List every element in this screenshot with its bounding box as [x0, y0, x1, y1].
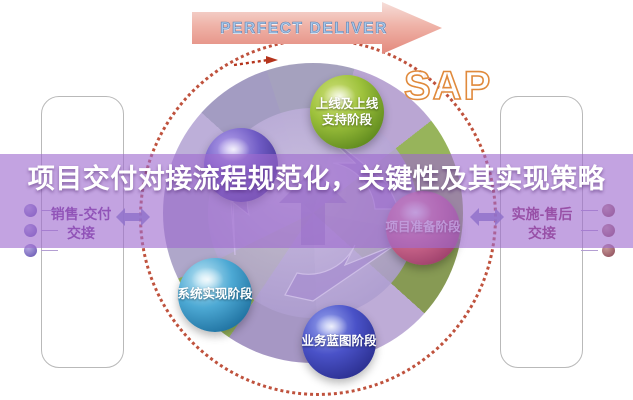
slide-canvas: PERFECT DELIVER SAP 销售-交付 交接 实施-售后 交接 上线… — [0, 0, 633, 400]
sphere-label-line1: 上线及上线 — [287, 96, 407, 112]
dash-icon — [581, 250, 598, 251]
sphere-label-realization: 系统实现阶段 — [155, 286, 275, 302]
sphere-label-line1: 业务蓝图阶段 — [279, 333, 399, 349]
sap-wordmark: SAP — [404, 66, 492, 106]
sphere-label-line2: 支持阶段 — [287, 112, 407, 128]
dash-icon — [41, 250, 58, 251]
perfect-deliver-label: PERFECT DELIVER — [214, 20, 394, 38]
sphere-label-line1: 系统实现阶段 — [155, 286, 275, 302]
sphere-label-blueprint: 业务蓝图阶段 — [279, 333, 399, 349]
title-banner-overlay — [0, 154, 633, 248]
sphere-label-go-live: 上线及上线 支持阶段 — [287, 96, 407, 129]
